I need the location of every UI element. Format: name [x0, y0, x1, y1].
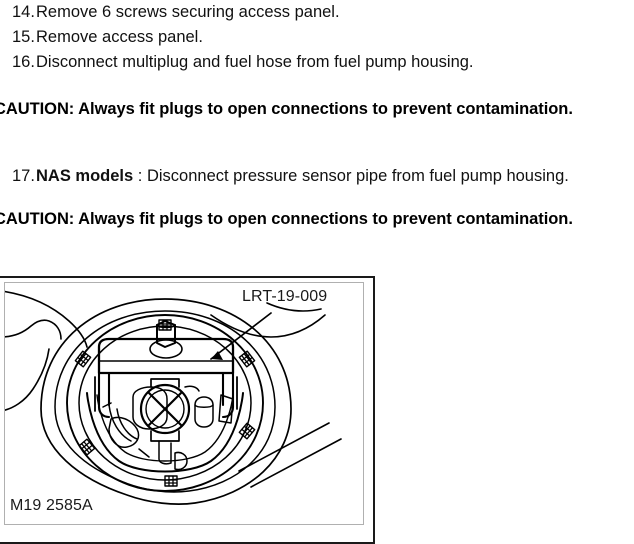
- step-number: 14.: [12, 0, 36, 25]
- caution-notice-2: CAUTION: Always fit plugs to open connec…: [0, 209, 634, 229]
- list-item: 17.NAS models : Disconnect pressure sens…: [0, 164, 634, 189]
- step-number: 17.: [12, 164, 36, 189]
- step-separator: :: [133, 167, 147, 185]
- tool-bridge-bar: [99, 339, 233, 373]
- step-emphasis-label: NAS models: [36, 167, 133, 185]
- step-text: Remove access panel.: [36, 28, 203, 46]
- body-panel-contour-right: [211, 303, 325, 337]
- step-text: Disconnect multiplug and fuel hose from …: [36, 53, 474, 71]
- list-item: 14.Remove 6 screws securing access panel…: [0, 0, 634, 25]
- tool-drive-boss: [141, 379, 189, 441]
- figure-frame-inner: [4, 282, 364, 525]
- list-item: 16.Disconnect multiplug and fuel hose fr…: [0, 50, 634, 75]
- step-number: 15.: [12, 25, 36, 50]
- panel-seam-lines: [239, 423, 341, 487]
- step-text: Disconnect pressure sensor pipe from fue…: [147, 167, 569, 185]
- step-text: Remove 6 screws securing access panel.: [36, 3, 340, 21]
- tool-reference-label: LRT-19-009: [242, 288, 327, 306]
- procedure-step-list: 14.Remove 6 screws securing access panel…: [0, 0, 634, 75]
- figure-id-label: M19 2585A: [10, 497, 93, 515]
- caution-notice-1: CAUTION: Always fit plugs to open connec…: [0, 99, 634, 119]
- step-number: 16.: [12, 50, 36, 75]
- list-item: 15.Remove access panel.: [0, 25, 634, 50]
- fuel-pump-housing-illustration: [4, 282, 364, 525]
